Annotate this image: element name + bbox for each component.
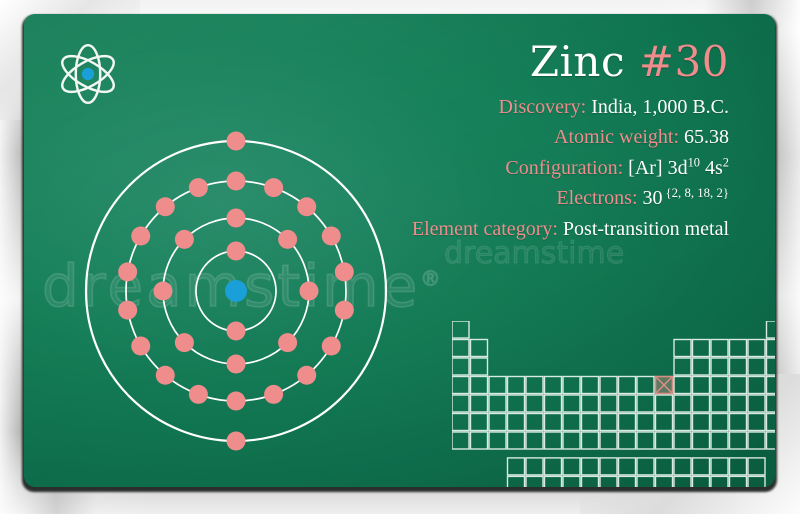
periodic-cell[interactable]	[674, 395, 691, 412]
periodic-cell[interactable]	[545, 414, 562, 431]
periodic-cell[interactable]	[619, 432, 636, 449]
electron-shell-3-dot-5	[335, 262, 354, 281]
chalkboard: dreamstime® dreamstime Zinc #30 Discover…	[24, 14, 775, 487]
periodic-cell[interactable]	[711, 476, 728, 487]
periodic-cell[interactable]	[674, 340, 691, 357]
page-title: Zinc #30	[209, 40, 729, 84]
periodic-cell[interactable]	[767, 414, 776, 431]
bohr-nucleus	[225, 280, 247, 302]
periodic-cell[interactable]	[582, 458, 599, 475]
periodic-cell[interactable]	[767, 358, 776, 375]
periodic-cell[interactable]	[489, 414, 506, 431]
periodic-cell[interactable]	[637, 458, 654, 475]
periodic-cell[interactable]	[656, 414, 673, 431]
electron-shell-2-dot-5	[227, 355, 246, 374]
electrons-value: 30	[643, 187, 663, 209]
periodic-cell[interactable]	[748, 458, 765, 475]
electron-shell-3-dot-2	[264, 178, 283, 197]
periodic-cell[interactable]	[656, 395, 673, 412]
electron-shell-3-dot-15	[118, 262, 137, 281]
periodic-cell[interactable]	[748, 377, 765, 394]
element-atomic-number: #30	[639, 37, 729, 86]
atom-icon-nucleus	[82, 68, 94, 80]
configuration-mid: 4s	[700, 157, 723, 179]
periodic-cell[interactable]	[582, 414, 599, 431]
electron-shell-3-dot-18	[189, 178, 208, 197]
periodic-cell[interactable]	[600, 458, 617, 475]
periodic-cell[interactable]	[767, 432, 776, 449]
configuration-base: [Ar] 3d	[628, 157, 687, 179]
periodic-cell[interactable]	[748, 476, 765, 487]
periodic-cell[interactable]	[600, 395, 617, 412]
periodic-cell[interactable]	[748, 340, 765, 357]
periodic-cell[interactable]	[693, 395, 710, 412]
periodic-cell[interactable]	[748, 395, 765, 412]
periodic-cell[interactable]	[711, 414, 728, 431]
periodic-cell[interactable]	[730, 432, 747, 449]
periodic-cell[interactable]	[471, 414, 488, 431]
periodic-cell[interactable]	[693, 340, 710, 357]
atomic-weight-label: Atomic weight:	[554, 126, 679, 148]
periodic-cell[interactable]	[545, 432, 562, 449]
periodic-cell[interactable]	[545, 395, 562, 412]
periodic-cell[interactable]	[489, 432, 506, 449]
periodic-cell[interactable]	[563, 476, 580, 487]
electron-shell-3-dot-6	[335, 301, 354, 320]
periodic-cell[interactable]	[508, 414, 525, 431]
periodic-cell[interactable]	[711, 340, 728, 357]
periodic-cell[interactable]	[693, 414, 710, 431]
periodic-cell[interactable]	[711, 377, 728, 394]
electron-shell-3-dot-4	[322, 227, 341, 246]
periodic-cell[interactable]	[600, 414, 617, 431]
electrons-shell-distribution: {2, 8, 18, 2}	[666, 186, 729, 200]
periodic-cell[interactable]	[452, 358, 469, 375]
periodic-cell[interactable]	[730, 414, 747, 431]
periodic-cell[interactable]	[674, 377, 691, 394]
periodic-cell[interactable]	[674, 414, 691, 431]
periodic-cell[interactable]	[508, 395, 525, 412]
electron-shell-3-dot-7	[322, 337, 341, 356]
periodic-cell[interactable]	[619, 377, 636, 394]
bohr-model-diagram	[64, 119, 409, 464]
periodic-cell[interactable]	[452, 414, 469, 431]
configuration-superscript-s: 2	[723, 155, 729, 169]
periodic-cell[interactable]	[748, 358, 765, 375]
periodic-cell[interactable]	[452, 395, 469, 412]
electron-shell-3-dot-10	[227, 392, 246, 411]
electron-shell-4-dot-2	[227, 432, 246, 451]
periodic-cell[interactable]	[526, 458, 543, 475]
electron-shell-2-dot-7	[154, 282, 173, 301]
periodic-cell[interactable]	[730, 358, 747, 375]
atom-icon	[52, 38, 124, 110]
element-name: Zinc	[530, 37, 625, 86]
electron-shell-3-dot-12	[156, 366, 175, 385]
periodic-cell[interactable]	[730, 377, 747, 394]
periodic-cell[interactable]	[508, 476, 525, 487]
electron-shell-3-dot-16	[131, 227, 150, 246]
periodic-cell[interactable]	[767, 340, 776, 357]
electron-shell-3-dot-8	[297, 366, 316, 385]
periodic-cell[interactable]	[471, 340, 488, 357]
configuration-superscript-d: 10	[688, 155, 700, 169]
periodic-cell[interactable]	[545, 458, 562, 475]
periodic-cell[interactable]	[471, 432, 488, 449]
electrons-label: Electrons:	[556, 187, 637, 209]
periodic-cell[interactable]	[693, 476, 710, 487]
discovery-value: India, 1,000 B.C.	[591, 96, 729, 118]
electron-shell-3-dot-17	[156, 197, 175, 216]
electron-shell-4-dot-1	[227, 132, 246, 151]
periodic-cell[interactable]	[767, 395, 776, 412]
periodic-cell[interactable]	[619, 395, 636, 412]
periodic-cell[interactable]	[489, 377, 506, 394]
periodic-cell[interactable]	[656, 458, 673, 475]
periodic-cell[interactable]	[563, 377, 580, 394]
periodic-cell[interactable]	[600, 377, 617, 394]
periodic-cell[interactable]	[508, 458, 525, 475]
periodic-cell[interactable]	[526, 432, 543, 449]
periodic-cell[interactable]	[563, 414, 580, 431]
watermark-registered-mark: ®	[420, 267, 443, 291]
periodic-cell[interactable]	[600, 476, 617, 487]
periodic-cell[interactable]	[767, 377, 776, 394]
electron-shell-2-dot-1	[227, 209, 246, 228]
periodic-cell[interactable]	[452, 432, 469, 449]
electron-shell-3-dot-9	[264, 385, 283, 404]
periodic-cell[interactable]	[526, 476, 543, 487]
periodic-cell[interactable]	[693, 358, 710, 375]
periodic-cell[interactable]	[674, 432, 691, 449]
electron-shell-2-dot-8	[175, 230, 194, 249]
electron-shell-3-dot-13	[131, 337, 150, 356]
electron-shell-2-dot-6	[175, 333, 194, 352]
electron-shell-1-dot-1	[227, 242, 246, 261]
periodic-cell[interactable]	[693, 377, 710, 394]
periodic-cell[interactable]	[582, 476, 599, 487]
electron-shell-2-dot-3	[300, 282, 319, 301]
periodic-cell[interactable]	[748, 414, 765, 431]
periodic-cell[interactable]	[730, 395, 747, 412]
periodic-cell[interactable]	[471, 377, 488, 394]
periodic-cell[interactable]	[582, 395, 599, 412]
periodic-cell[interactable]	[452, 377, 469, 394]
electron-shell-3-dot-3	[297, 197, 316, 216]
periodic-cell[interactable]	[563, 432, 580, 449]
electron-shell-2-dot-2	[278, 230, 297, 249]
periodic-cell[interactable]	[508, 432, 525, 449]
periodic-cell[interactable]	[637, 414, 654, 431]
periodic-cell[interactable]	[656, 432, 673, 449]
discovery-row: Discovery: India, 1,000 B.C.	[209, 92, 729, 122]
periodic-cell[interactable]	[767, 321, 776, 338]
periodic-cell[interactable]	[600, 432, 617, 449]
periodic-cell[interactable]	[711, 432, 728, 449]
periodic-cell[interactable]	[637, 432, 654, 449]
periodic-cell[interactable]	[693, 458, 710, 475]
periodic-cell[interactable]	[526, 414, 543, 431]
periodic-cell[interactable]	[563, 395, 580, 412]
electron-shell-3-dot-11	[189, 385, 208, 404]
periodic-cell[interactable]	[748, 432, 765, 449]
electron-shell-1-dot-2	[227, 322, 246, 341]
periodic-cell[interactable]	[582, 432, 599, 449]
configuration-value: [Ar] 3d10 4s2	[628, 157, 729, 179]
configuration-label: Configuration:	[505, 157, 623, 179]
periodic-cell[interactable]	[674, 358, 691, 375]
periodic-cell[interactable]	[452, 321, 469, 338]
periodic-cell[interactable]	[674, 476, 691, 487]
periodic-cell[interactable]	[489, 395, 506, 412]
discovery-label: Discovery:	[498, 96, 586, 118]
periodic-cell[interactable]	[526, 377, 543, 394]
periodic-cell[interactable]	[452, 340, 469, 357]
periodic-cell[interactable]	[674, 458, 691, 475]
category-label: Element category:	[412, 218, 558, 240]
periodic-cell[interactable]	[471, 358, 488, 375]
periodic-cell[interactable]	[637, 395, 654, 412]
category-value: Post-transition metal	[563, 218, 729, 240]
periodic-cell[interactable]	[545, 377, 562, 394]
electron-shell-3-dot-1	[227, 172, 246, 191]
periodic-cell[interactable]	[637, 476, 654, 487]
periodic-cell[interactable]	[637, 377, 654, 394]
periodic-cell[interactable]	[619, 414, 636, 431]
periodic-cell[interactable]	[508, 377, 525, 394]
atomic-weight-value: 65.38	[684, 126, 729, 148]
periodic-cell[interactable]	[730, 476, 747, 487]
periodic-cell[interactable]	[545, 476, 562, 487]
periodic-cell[interactable]	[656, 476, 673, 487]
periodic-cell[interactable]	[693, 432, 710, 449]
mini-periodic-table[interactable]	[452, 321, 775, 487]
electron-shell-2-dot-4	[278, 333, 297, 352]
infographic-canvas: dreamstime® dreamstime Zinc #30 Discover…	[0, 0, 800, 514]
periodic-cell[interactable]	[619, 476, 636, 487]
periodic-cell[interactable]	[582, 377, 599, 394]
periodic-cell[interactable]	[730, 340, 747, 357]
electron-shell-3-dot-14	[118, 301, 137, 320]
periodic-cell[interactable]	[563, 458, 580, 475]
periodic-cell[interactable]	[471, 395, 488, 412]
periodic-cell[interactable]	[526, 395, 543, 412]
periodic-cell[interactable]	[711, 458, 728, 475]
periodic-cell[interactable]	[730, 458, 747, 475]
periodic-cell[interactable]	[711, 395, 728, 412]
periodic-cell[interactable]	[711, 358, 728, 375]
periodic-cell[interactable]	[619, 458, 636, 475]
